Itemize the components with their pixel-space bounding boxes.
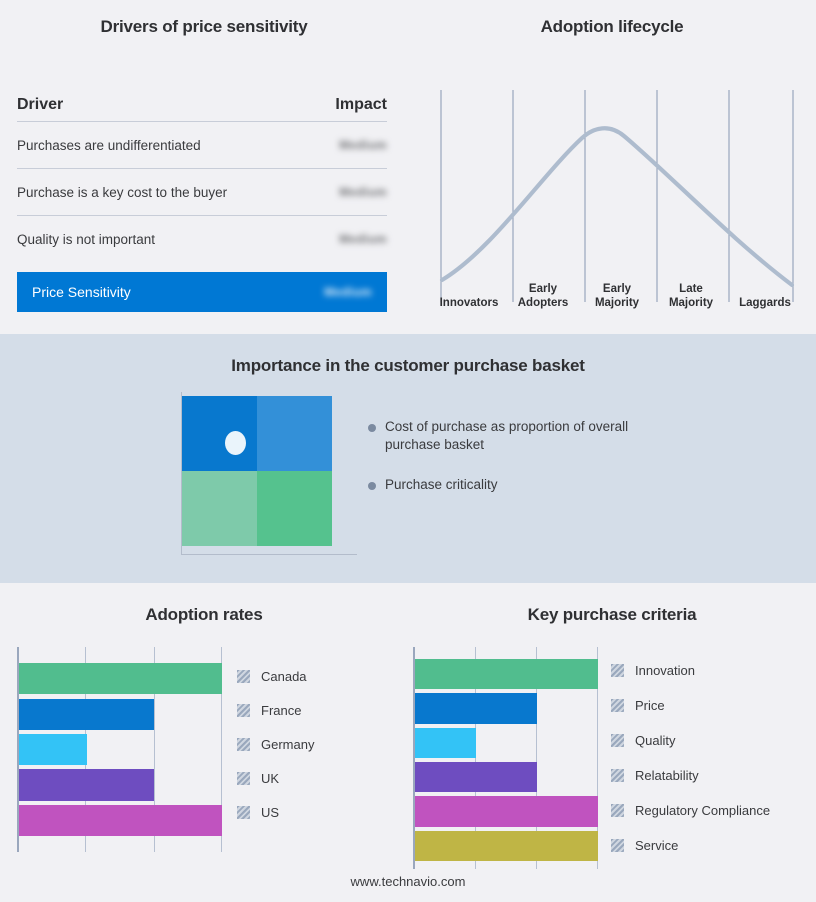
driver-label: Purchases are undifferentiated [17,138,201,153]
legend-label: UK [261,771,279,786]
stage-line-2: Majority [580,296,654,310]
hatched-square-icon [611,804,624,817]
purchase-basket-legend: Cost of purchase as proportion of overal… [368,418,668,516]
table-row[interactable]: Quality is not important Medium [17,216,387,262]
bar-service[interactable] [415,831,598,861]
hatched-square-icon [237,738,250,751]
bar-slot [19,732,222,767]
legend-label: Cost of purchase as proportion of overal… [385,418,668,454]
legend-item-canada[interactable]: Canada [237,669,314,684]
stage-line-1: Early [580,282,654,296]
legend-item-price[interactable]: Price [611,698,770,713]
legend-item[interactable]: Purchase criticality [368,476,668,494]
bar-quality[interactable] [415,728,476,758]
legend-label: US [261,805,279,820]
adoption-rates-chart [17,647,222,852]
table-header-row: Driver Impact [17,88,387,121]
adoption-lifecycle-chart: Innovators Early Adopters Early Majority… [432,80,802,312]
legend-item-service[interactable]: Service [611,838,770,853]
bar-innovation[interactable] [415,659,598,689]
hatched-square-icon [611,769,624,782]
quadrant-grid [182,396,332,546]
legend-label: Price [635,698,665,713]
stage-label-innovators: Innovators [432,268,506,312]
adoption-bell-curve [442,128,792,285]
stage-line-2: Laggards [728,296,802,310]
hatched-square-icon [237,806,250,819]
hatched-square-icon [237,704,250,717]
adoption-rates-legend: Canada France Germany UK US [237,669,314,820]
price-sensitivity-highlight-row[interactable]: Price Sensitivity Medium [17,272,387,312]
drivers-title: Drivers of price sensitivity [0,17,408,37]
stage-line-2: Innovators [432,296,506,310]
quadrant-chart [172,396,347,561]
top-row: Drivers of price sensitivity Driver Impa… [0,0,816,334]
legend-bullet-icon [368,424,376,432]
purchase-criteria-legend: Innovation Price Quality Relatability Re… [611,663,770,853]
stage-label-laggards: Laggards [728,268,802,312]
stage-line-2: Adopters [506,296,580,310]
bar-slot [19,767,222,802]
quadrant-top-left[interactable] [182,396,257,471]
lifecycle-stage-labels: Innovators Early Adopters Early Majority… [432,268,802,312]
stage-line-1: Late [654,282,728,296]
adoption-rates-bars [19,647,222,852]
stage-label-early-adopters: Early Adopters [506,268,580,312]
adoption-lifecycle-panel: Adoption lifecycle [408,0,816,334]
legend-label: Quality [635,733,675,748]
bar-slot [415,829,598,863]
highlight-label: Price Sensitivity [32,284,131,300]
impact-value: Medium [339,185,387,199]
hatched-square-icon [237,772,250,785]
legend-item-regulatory-compliance[interactable]: Regulatory Compliance [611,803,770,818]
impact-value: Medium [339,138,387,152]
driver-label: Purchase is a key cost to the buyer [17,185,227,200]
footer-url[interactable]: www.technavio.com [0,874,816,889]
legend-label: Germany [261,737,314,752]
infographic-page: Drivers of price sensitivity Driver Impa… [0,0,816,902]
quadrant-bottom-left[interactable] [182,471,257,546]
bar-france[interactable] [19,699,154,730]
legend-item-quality[interactable]: Quality [611,733,770,748]
hatched-square-icon [611,839,624,852]
purchase-criteria-panel: Key purchase criteria [408,583,816,902]
legend-item-us[interactable]: US [237,805,314,820]
bar-price[interactable] [415,693,537,723]
stage-line-2: Majority [654,296,728,310]
adoption-lifecycle-title: Adoption lifecycle [408,17,816,37]
purchase-criteria-title: Key purchase criteria [408,605,816,625]
legend-bullet-icon [368,482,376,490]
bar-us[interactable] [19,805,222,836]
bar-canada[interactable] [19,663,222,694]
legend-item[interactable]: Cost of purchase as proportion of overal… [368,418,668,454]
stage-line-1: Early [506,282,580,296]
hatched-square-icon [611,664,624,677]
legend-label: France [261,703,301,718]
quadrant-top-right[interactable] [257,396,332,471]
adoption-rates-title: Adoption rates [0,605,408,625]
bar-germany[interactable] [19,734,87,765]
purchase-criteria-chart [413,647,598,869]
bottom-row: Adoption rates [0,583,816,902]
bar-slot [19,803,222,838]
quadrant-bottom-right[interactable] [257,471,332,546]
legend-item-innovation[interactable]: Innovation [611,663,770,678]
impact-value: Medium [339,232,387,246]
legend-label: Innovation [635,663,695,678]
bar-slot [415,726,598,760]
adoption-rates-panel: Adoption rates [0,583,408,902]
bar-slot [415,794,598,828]
purchase-basket-title: Importance in the customer purchase bask… [0,356,816,376]
legend-item-germany[interactable]: Germany [237,737,314,752]
legend-item-uk[interactable]: UK [237,771,314,786]
position-marker-dot [225,431,246,455]
bar-relatability[interactable] [415,762,537,792]
legend-label: Purchase criticality [385,476,498,494]
legend-item-france[interactable]: France [237,703,314,718]
driver-label: Quality is not important [17,232,155,247]
column-header-driver: Driver [17,96,63,114]
stage-label-late-majority: Late Majority [654,268,728,312]
bar-slot [415,657,598,691]
legend-label: Relatability [635,768,699,783]
column-header-impact: Impact [335,96,387,114]
bar-slot [19,661,222,696]
bar-slot [415,691,598,725]
hatched-square-icon [611,699,624,712]
table-row[interactable]: Purchase is a key cost to the buyer Medi… [17,169,387,215]
drivers-table: Driver Impact Purchases are undifferenti… [17,88,387,312]
bar-regulatory-compliance[interactable] [415,796,598,826]
bar-slot [415,760,598,794]
highlight-impact-value: Medium [324,285,372,299]
purchase-basket-panel: Importance in the customer purchase bask… [0,334,816,583]
purchase-criteria-bars [415,647,598,869]
bar-uk[interactable] [19,769,154,800]
hatched-square-icon [237,670,250,683]
legend-item-relatability[interactable]: Relatability [611,768,770,783]
bar-slot [19,696,222,731]
stage-label-early-majority: Early Majority [580,268,654,312]
quadrant-axis-horizontal [181,554,357,555]
table-row[interactable]: Purchases are undifferentiated Medium [17,122,387,168]
legend-label: Canada [261,669,307,684]
legend-label: Service [635,838,678,853]
legend-label: Regulatory Compliance [635,803,770,818]
drivers-panel: Drivers of price sensitivity Driver Impa… [0,0,408,334]
hatched-square-icon [611,734,624,747]
